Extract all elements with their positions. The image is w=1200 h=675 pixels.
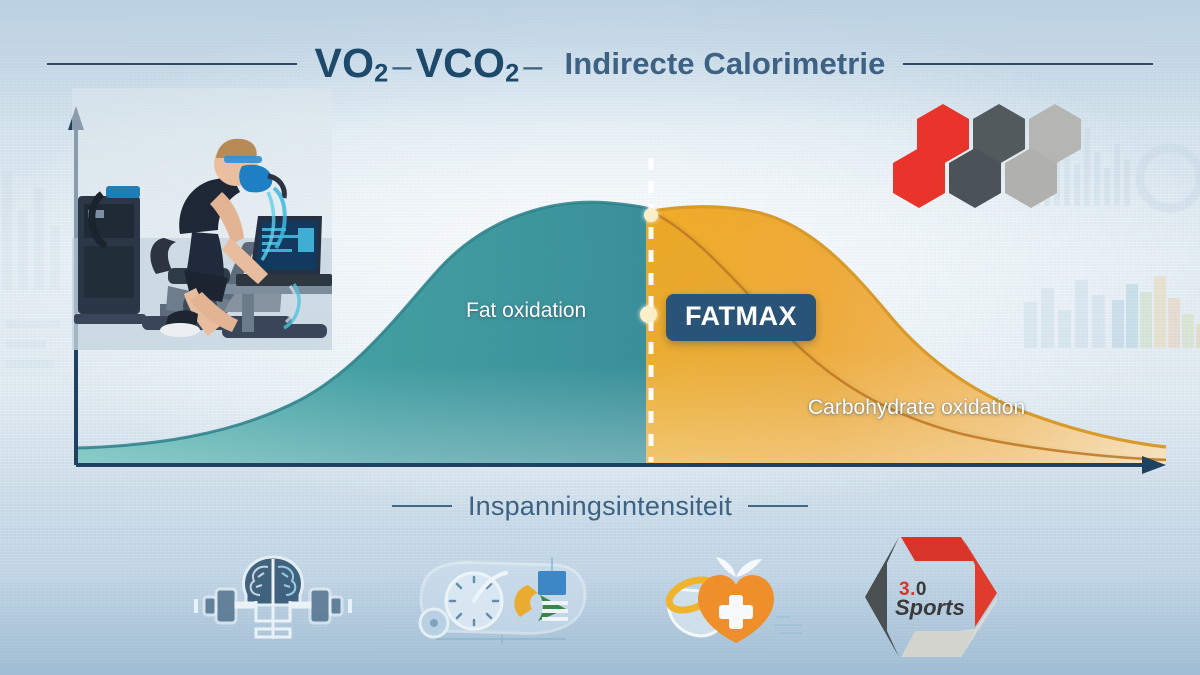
hexagon-cluster bbox=[893, 100, 1093, 215]
fatmax-label-dot bbox=[640, 306, 657, 323]
nutrition-heart-icon bbox=[650, 541, 810, 653]
fatmax-badge: FATMAX bbox=[666, 294, 816, 341]
fat-oxidation-label: Fat oxidation bbox=[466, 299, 586, 323]
cyclist-vo2-test-photo bbox=[72, 88, 332, 350]
infographic-root: VO2–VCO2– Indirecte Calorimetrie bbox=[0, 0, 1200, 675]
logo-hex-segment-dark-left bbox=[865, 537, 899, 657]
x-caption-rule-left bbox=[392, 505, 452, 507]
fatmax-peak-dot bbox=[644, 208, 658, 222]
x-caption-rule-right bbox=[748, 505, 808, 507]
brain-dumbbell-icon bbox=[178, 543, 368, 653]
logo-hex-segment-light-bottom bbox=[901, 631, 975, 657]
x-axis-caption: Inspanningsintensiteit bbox=[468, 491, 732, 522]
sports-30-logo: 3.0 Sports bbox=[857, 531, 1007, 663]
metabolic-gauge-icon bbox=[406, 543, 596, 653]
footer-icon-row: 3.0 Sports bbox=[0, 527, 1200, 667]
carbohydrate-oxidation-label: Carbohydrate oxidation bbox=[808, 396, 1025, 420]
x-axis-caption-row: Inspanningsintensiteit bbox=[0, 488, 1200, 524]
